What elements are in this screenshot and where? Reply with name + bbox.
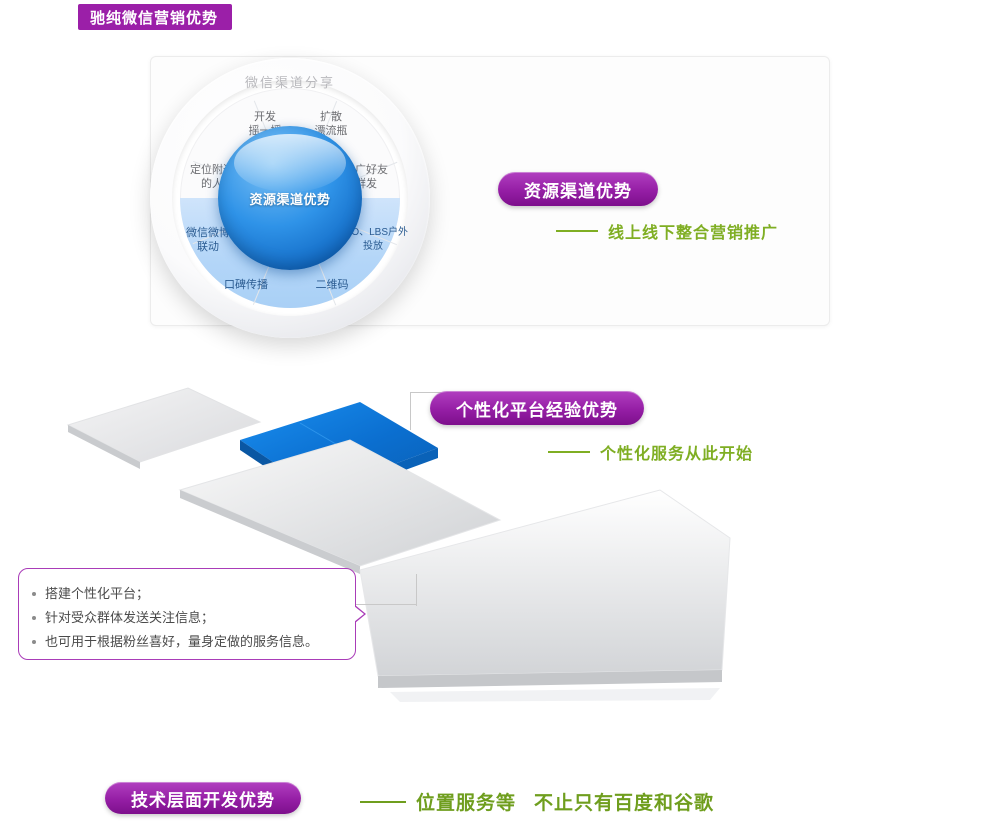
channel-wheel-diagram: 微信渠道分享 开发摇一摇 扩散漂流瓶 推广好友群发 定位附近的人 微信微博联动 … <box>150 58 440 348</box>
badge-resource-channel[interactable]: 资源渠道优势 <box>498 172 658 206</box>
wheel-spoke-erweima: 二维码 <box>298 278 366 292</box>
badge-personalized-platform-label: 个性化平台经验优势 <box>456 396 618 421</box>
page-title-bar: 驰纯微信营销优势 <box>78 4 232 30</box>
caption-section1: 线上线下整合营销推广 <box>556 219 778 243</box>
wheel-top-label: 微信渠道分享 <box>150 72 430 91</box>
wheel-spoke-koubei: 口碑传播 <box>212 278 280 292</box>
wheel-core-circle: 资源渠道优势 <box>218 126 362 270</box>
badge-personalized-platform[interactable]: 个性化平台经验优势 <box>430 391 644 425</box>
caption-dash-icon <box>556 230 598 232</box>
list-item: 搭建个性化平台； <box>45 582 355 606</box>
callout-pointer-inner-icon <box>354 606 364 622</box>
caption-section3-part2: 不止只有百度和谷歌 <box>534 788 714 815</box>
caption-section1-text: 线上线下整合营销推广 <box>608 219 778 243</box>
caption-section2: 个性化服务从此开始 <box>548 440 753 464</box>
caption-dash-icon <box>548 451 590 453</box>
page-title: 驰纯微信营销优势 <box>90 7 218 28</box>
caption-section3: 位置服务等 不止只有百度和谷歌 <box>360 788 714 815</box>
connector-vertical <box>410 392 411 430</box>
badge-tech-development-label: 技术层面开发优势 <box>131 786 275 811</box>
caption-dash-icon <box>360 801 406 803</box>
badge-tech-development[interactable]: 技术层面开发优势 <box>105 782 301 814</box>
callout-list: 搭建个性化平台； 针对受众群体发送关注信息； 也可用于根据粉丝喜好，量身定做的服… <box>19 569 355 654</box>
caption-section3-part1: 位置服务等 <box>416 788 516 815</box>
callout-box: 搭建个性化平台； 针对受众群体发送关注信息； 也可用于根据粉丝喜好，量身定做的服… <box>18 568 356 660</box>
list-item: 也可用于根据粉丝喜好，量身定做的服务信息。 <box>45 630 355 654</box>
plane-shadow-strip <box>390 688 720 702</box>
badge-resource-channel-label: 资源渠道优势 <box>524 177 632 202</box>
wheel-core-label: 资源渠道优势 <box>249 189 330 208</box>
connector-callout-vertical <box>416 574 417 606</box>
list-item: 针对受众群体发送关注信息； <box>45 606 355 630</box>
caption-section2-text: 个性化服务从此开始 <box>600 440 753 464</box>
plane-upper-left <box>68 388 260 462</box>
